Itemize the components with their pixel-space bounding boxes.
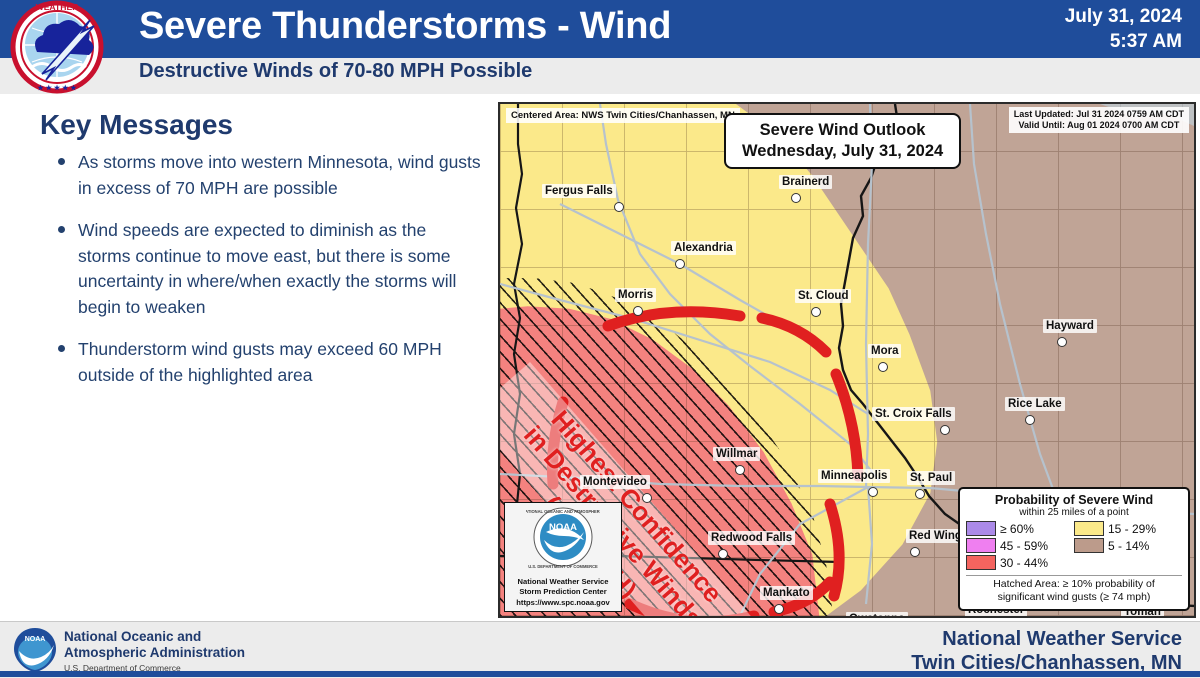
page-title: Severe Thunderstorms - Wind bbox=[139, 5, 671, 48]
key-messages-heading: Key Messages bbox=[40, 109, 233, 141]
city-label: St. Cloud bbox=[795, 289, 851, 303]
city-point-icon bbox=[1057, 337, 1067, 347]
legend-column-right: 15 - 29%5 - 14% bbox=[1074, 521, 1182, 572]
city-label: Owatonna bbox=[846, 612, 908, 618]
city-point-icon bbox=[718, 549, 728, 559]
noaa-footer-line-1: National Oceanic and bbox=[64, 629, 245, 645]
svg-text:U.S. DEPARTMENT OF COMMERCE: U.S. DEPARTMENT OF COMMERCE bbox=[528, 564, 598, 569]
city-label: Mora bbox=[868, 344, 901, 358]
city-point-icon bbox=[633, 306, 643, 316]
city-label: Alexandria bbox=[671, 241, 736, 255]
city-point-icon bbox=[791, 193, 801, 203]
legend-footnote: Hatched Area: ≥ 10% probability of signi… bbox=[966, 575, 1182, 604]
legend-item: ≥ 60% bbox=[966, 521, 1074, 536]
city-point-icon bbox=[878, 362, 888, 372]
map-legend: Probability of Severe Wind within 25 mil… bbox=[958, 487, 1190, 611]
legend-swatch bbox=[966, 555, 996, 570]
city-point-icon bbox=[774, 604, 784, 614]
city-point-icon bbox=[614, 202, 624, 212]
city-label: Morris bbox=[615, 288, 656, 302]
legend-item: 30 - 44% bbox=[966, 555, 1074, 570]
nws-footer-line-1: National Weather Service bbox=[911, 627, 1182, 651]
legend-label: 15 - 29% bbox=[1108, 522, 1156, 536]
spc-org-line-2: Storm Prediction Center bbox=[507, 587, 619, 597]
city-point-icon bbox=[910, 547, 920, 557]
list-item: As storms move into western Minnesota, w… bbox=[52, 150, 482, 201]
legend-title: Probability of Severe Wind bbox=[966, 493, 1182, 507]
outlook-date: Wednesday, July 31, 2024 bbox=[742, 141, 943, 162]
page-subtitle: Destructive Winds of 70-80 MPH Possible bbox=[139, 60, 532, 83]
nws-office-footer: National Weather Service Twin Cities/Cha… bbox=[911, 627, 1182, 675]
city-label: Brainerd bbox=[779, 175, 832, 189]
nws-logo-icon: WEATHER ★ ★ ★ ★ ★ bbox=[2, 0, 112, 94]
legend-label: 5 - 14% bbox=[1108, 539, 1149, 553]
legend-item: 5 - 14% bbox=[1074, 538, 1182, 553]
legend-footnote-line-2: significant wind gusts (≥ 74 mph) bbox=[966, 591, 1182, 604]
key-messages-list: As storms move into western Minnesota, w… bbox=[52, 150, 482, 405]
footer-accent-bar bbox=[0, 671, 1200, 677]
legend-footnote-line-1: Hatched Area: ≥ 10% probability of bbox=[966, 578, 1182, 591]
legend-label: ≥ 60% bbox=[1000, 522, 1034, 536]
city-label: Minneapolis bbox=[818, 469, 890, 483]
list-item-text: Wind speeds are expected to diminish as … bbox=[78, 220, 456, 317]
city-point-icon bbox=[940, 425, 950, 435]
legend-column-left: ≥ 60%45 - 59%30 - 44% bbox=[966, 521, 1074, 572]
legend-swatch bbox=[966, 538, 996, 553]
legend-label: 30 - 44% bbox=[1000, 556, 1048, 570]
severe-wind-outlook-map[interactable]: Highest Confidence in Destructive Winds … bbox=[498, 102, 1196, 618]
svg-text:NOAA: NOAA bbox=[25, 636, 46, 643]
spc-org-line-1: National Weather Service bbox=[507, 577, 619, 587]
city-label: Rice Lake bbox=[1005, 397, 1065, 411]
header-datetime: July 31, 2024 5:37 AM bbox=[1065, 4, 1182, 54]
last-updated-text: Last Updated: Jul 31 2024 0759 AM CDT bbox=[1014, 109, 1184, 120]
bullet-dot-icon bbox=[58, 158, 65, 165]
legend-swatch bbox=[1074, 521, 1104, 536]
spc-url[interactable]: https://www.spc.noaa.gov bbox=[507, 598, 619, 607]
spc-credit-box: NOAA NATIONAL OCEANIC AND ATMOSPHERIC U.… bbox=[504, 502, 622, 612]
legend-swatch bbox=[1074, 538, 1104, 553]
city-label: St. Croix Falls bbox=[872, 407, 955, 421]
noaa-footer-line-2: Atmospheric Administration bbox=[64, 645, 245, 661]
bullet-dot-icon bbox=[58, 345, 65, 352]
legend-label: 45 - 59% bbox=[1000, 539, 1048, 553]
valid-until-text: Valid Until: Aug 01 2024 0700 AM CDT bbox=[1014, 120, 1184, 131]
noaa-logo-icon: NOAA bbox=[12, 627, 58, 673]
list-item: Wind speeds are expected to diminish as … bbox=[52, 218, 482, 320]
legend-item: 45 - 59% bbox=[966, 538, 1074, 553]
city-point-icon bbox=[642, 493, 652, 503]
svg-text:NOAA: NOAA bbox=[549, 522, 577, 533]
city-label: Mankato bbox=[760, 586, 813, 600]
city-point-icon bbox=[915, 489, 925, 499]
outlook-title: Severe Wind Outlook bbox=[742, 120, 943, 141]
city-label: Redwood Falls bbox=[708, 531, 795, 545]
list-item-text: As storms move into western Minnesota, w… bbox=[78, 152, 481, 198]
centered-area-label: Centered Area: NWS Twin Cities/Chanhasse… bbox=[506, 108, 740, 123]
outlook-title-box: Severe Wind Outlook Wednesday, July 31, … bbox=[724, 113, 961, 169]
map-timestamp-label: Last Updated: Jul 31 2024 0759 AM CDT Va… bbox=[1009, 107, 1189, 133]
city-label: Willmar bbox=[713, 447, 760, 461]
legend-item: 15 - 29% bbox=[1074, 521, 1182, 536]
noaa-logo-icon: NOAA NATIONAL OCEANIC AND ATMOSPHERIC U.… bbox=[526, 506, 600, 572]
svg-text:NATIONAL OCEANIC AND ATMOSPHER: NATIONAL OCEANIC AND ATMOSPHERIC bbox=[526, 509, 600, 514]
header-date: July 31, 2024 bbox=[1065, 4, 1182, 29]
bullet-dot-icon bbox=[58, 226, 65, 233]
page-footer: NOAA National Oceanic and Atmospheric Ad… bbox=[0, 621, 1200, 678]
legend-swatch bbox=[966, 521, 996, 536]
city-label: Hayward bbox=[1043, 319, 1097, 333]
legend-subtitle: within 25 miles of a point bbox=[966, 507, 1182, 518]
city-label: Montevideo bbox=[580, 475, 650, 489]
city-point-icon bbox=[868, 487, 878, 497]
noaa-footer-name: National Oceanic and Atmospheric Adminis… bbox=[64, 629, 245, 661]
list-item: Thunderstorm wind gusts may exceed 60 MP… bbox=[52, 337, 482, 388]
main-content: Key Messages As storms move into western… bbox=[0, 94, 1200, 621]
svg-text:★ ★ ★ ★ ★: ★ ★ ★ ★ ★ bbox=[37, 84, 77, 92]
city-point-icon bbox=[811, 307, 821, 317]
city-point-icon bbox=[1025, 415, 1035, 425]
list-item-text: Thunderstorm wind gusts may exceed 60 MP… bbox=[78, 339, 442, 385]
header-time: 5:37 AM bbox=[1065, 29, 1182, 54]
city-point-icon bbox=[675, 259, 685, 269]
city-label: Red Wing bbox=[906, 529, 965, 543]
city-label: St. Paul bbox=[907, 471, 955, 485]
city-point-icon bbox=[735, 465, 745, 475]
city-label: Fergus Falls bbox=[542, 184, 616, 198]
svg-text:WEATHER: WEATHER bbox=[36, 2, 80, 12]
